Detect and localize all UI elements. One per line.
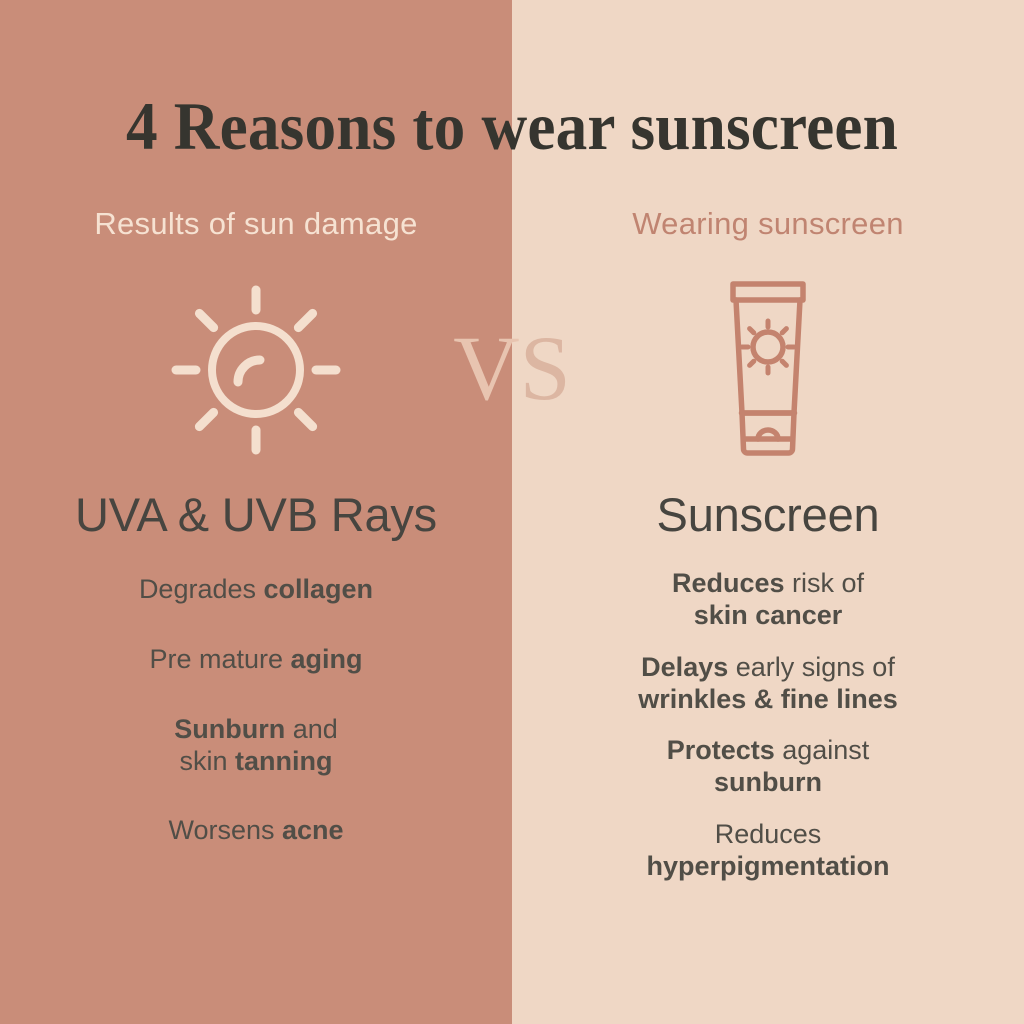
comparison-columns: Results of sun damage [0,0,1024,1024]
sunscreen-benefits-list: Reduces risk ofskin cancer Delays early … [512,568,1024,883]
column-sun-damage: Results of sun damage [0,0,512,1024]
list-item: Degrades collagen [139,574,373,606]
right-subtitle: Wearing sunscreen [632,208,904,239]
list-item: Reduceshyperpigmentation [646,819,889,883]
list-item: Delays early signs ofwrinkles & fine lin… [638,652,898,716]
list-item: Protects againstsunburn [667,735,870,799]
sun-icon-container [168,275,344,465]
sun-icon [168,282,344,458]
left-heading: UVA & UVB Rays [75,491,437,538]
infographic-poster: 4 Reasons to wear sunscreen VS Results o… [0,0,1024,1024]
list-item: Sunburn andskin tanning [174,714,338,778]
list-item: Reduces risk ofskin cancer [672,568,864,632]
sunscreen-tube-icon-container [713,275,823,465]
right-heading: Sunscreen [657,491,880,538]
column-wearing-sunscreen: Wearing sunscreen [512,0,1024,1024]
sun-damage-list: Degrades collagen Pre mature aging Sunbu… [0,574,512,847]
left-subtitle: Results of sun damage [94,208,417,239]
list-item: Worsens acne [168,815,343,847]
sunscreen-tube-icon [713,281,823,459]
list-item: Pre mature aging [149,644,362,676]
